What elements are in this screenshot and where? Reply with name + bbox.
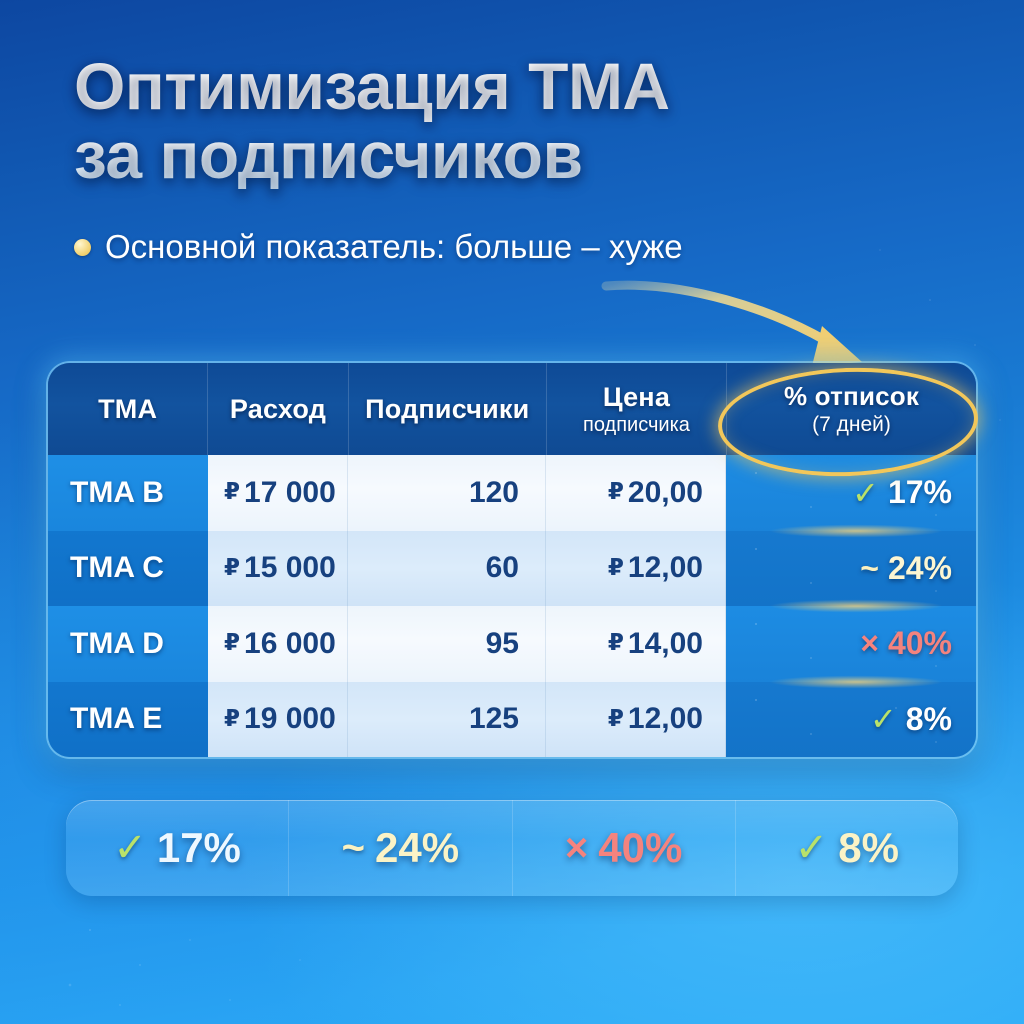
cell-spend: ₽ 17 000 xyxy=(208,455,348,531)
cell-unsub-value: 40% xyxy=(888,625,952,662)
ruble-sign-icon: ₽ xyxy=(608,629,624,656)
summary-item: ✓ 8% xyxy=(736,800,958,896)
ruble-sign-icon: ₽ xyxy=(224,705,240,732)
bullet-dot-icon xyxy=(74,239,91,256)
cell-spend-value: 19 000 xyxy=(244,702,336,736)
cell-tma: TMA C xyxy=(48,531,208,607)
ruble-sign-icon: ₽ xyxy=(224,629,240,656)
title-line-2: за подписчиков xyxy=(74,121,954,190)
table-body: TMA B ₽ 17 000 120 ₽ 20,00 ✓ 17% TMA C xyxy=(48,455,976,757)
cell-price-value: 20,00 xyxy=(628,476,703,510)
cell-spend: ₽ 15 000 xyxy=(208,531,348,607)
table-row: TMA C ₽ 15 000 60 ₽ 12,00 ~ 24% xyxy=(48,531,976,607)
cell-spend-value: 17 000 xyxy=(244,476,336,510)
cell-price-value: 12,00 xyxy=(628,702,703,736)
column-header-spend: Расход xyxy=(208,363,348,455)
table-row: TMA B ₽ 17 000 120 ₽ 20,00 ✓ 17% xyxy=(48,455,976,531)
cell-subscribers: 120 xyxy=(348,455,546,531)
summary-value: 8% xyxy=(838,824,899,872)
table-row: TMA D ₽ 16 000 95 ₽ 14,00 × 40% xyxy=(48,606,976,682)
cross-icon: × xyxy=(860,625,879,662)
check-icon: ✓ xyxy=(795,825,829,871)
table-header-row: TMA Расход Подписчики Цена подписчика % … xyxy=(48,363,976,455)
poster-canvas: Оптимизация TMA за подписчиков Основной … xyxy=(0,0,1024,1024)
ruble-sign-icon: ₽ xyxy=(608,554,624,581)
cell-subscribers: 125 xyxy=(348,682,546,758)
cell-spend: ₽ 16 000 xyxy=(208,606,348,682)
cell-subscribers: 60 xyxy=(348,531,546,607)
cell-price-value: 14,00 xyxy=(628,627,703,661)
column-header-price: Цена подписчика xyxy=(547,363,727,455)
cell-price: ₽ 12,00 xyxy=(546,531,726,607)
metrics-table: TMA Расход Подписчики Цена подписчика % … xyxy=(48,363,976,757)
tilde-icon: ~ xyxy=(860,550,879,587)
summary-item: × 40% xyxy=(513,800,736,896)
cell-unsubscribe-rate: ✓ 17% xyxy=(726,455,976,531)
check-icon: ✓ xyxy=(870,700,897,738)
summary-item: ~ 24% xyxy=(289,800,512,896)
summary-bar: ✓ 17% ~ 24% × 40% ✓ 8% xyxy=(66,800,958,896)
cell-unsubscribe-rate: ~ 24% xyxy=(726,531,976,607)
cell-spend-value: 15 000 xyxy=(244,551,336,585)
summary-value: 24% xyxy=(375,824,459,872)
column-header-unsubscribe-rate: % отписок (7 дней) xyxy=(727,363,976,455)
ruble-sign-icon: ₽ xyxy=(224,478,240,505)
title-line-1: Оптимизация TMA xyxy=(74,49,670,123)
table-row: TMA E ₽ 19 000 125 ₽ 12,00 ✓ 8% xyxy=(48,682,976,758)
cell-spend-value: 16 000 xyxy=(244,627,336,661)
cell-tma: TMA D xyxy=(48,606,208,682)
ruble-sign-icon: ₽ xyxy=(224,554,240,581)
cell-spend: ₽ 19 000 xyxy=(208,682,348,758)
tilde-icon: ~ xyxy=(342,826,365,871)
cell-unsub-value: 8% xyxy=(906,701,952,738)
cell-unsubscribe-rate: ✓ 8% xyxy=(726,682,976,758)
page-title: Оптимизация TMA за подписчиков xyxy=(74,52,954,189)
cell-tma: TMA E xyxy=(48,682,208,758)
summary-value: 17% xyxy=(157,824,241,872)
cell-price: ₽ 20,00 xyxy=(546,455,726,531)
subtitle: Основной показатель: больше – хуже xyxy=(74,228,683,266)
cell-unsub-value: 17% xyxy=(888,474,952,511)
subtitle-label: Основной показатель: больше – хуже xyxy=(105,228,683,266)
check-icon: ✓ xyxy=(113,825,147,871)
check-icon: ✓ xyxy=(852,474,879,512)
ruble-sign-icon: ₽ xyxy=(608,705,624,732)
column-header-subscribers: Подписчики xyxy=(349,363,547,455)
summary-item: ✓ 17% xyxy=(66,800,289,896)
column-header-tma: TMA xyxy=(48,363,208,455)
cell-price: ₽ 12,00 xyxy=(546,682,726,758)
summary-value: 40% xyxy=(598,824,682,872)
cross-icon: × xyxy=(565,826,588,871)
cell-subscribers: 95 xyxy=(348,606,546,682)
cell-price: ₽ 14,00 xyxy=(546,606,726,682)
cell-unsubscribe-rate: × 40% xyxy=(726,606,976,682)
cell-price-value: 12,00 xyxy=(628,551,703,585)
cell-tma: TMA B xyxy=(48,455,208,531)
cell-unsub-value: 24% xyxy=(888,550,952,587)
ruble-sign-icon: ₽ xyxy=(608,478,624,505)
